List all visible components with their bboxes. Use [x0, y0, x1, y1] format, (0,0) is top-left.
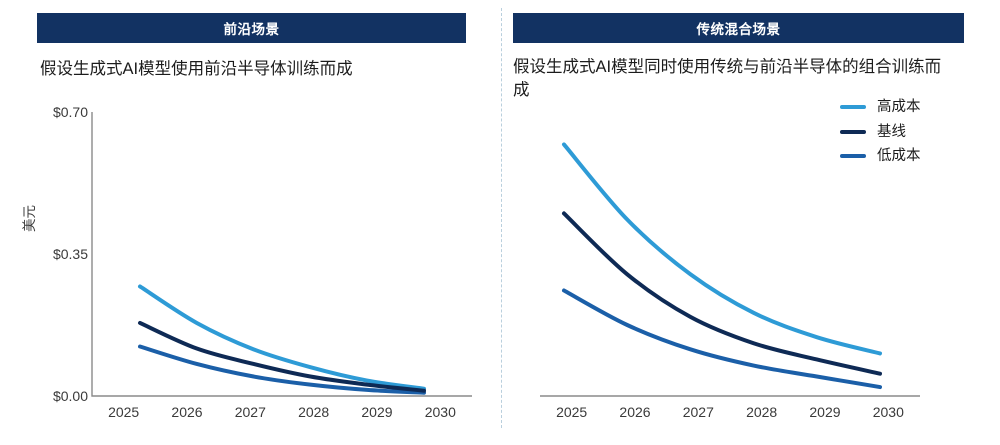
x-tick: 2027	[667, 404, 730, 420]
series-group	[140, 286, 424, 392]
series-line-high-cost	[564, 144, 880, 353]
legend-swatch-icon	[840, 105, 866, 109]
figure-canvas: 前沿场景 假设生成式AI模型使用前沿半导体训练而成 美元 $0.70 $0.35…	[0, 0, 1000, 445]
panel-band-label: 前沿场景	[224, 18, 280, 38]
panel-band-hybrid: 传统混合场景	[513, 13, 964, 43]
x-axis-ticks-frontier: 2025 2026 2027 2028 2029 2030	[92, 404, 472, 426]
line-chart-frontier	[92, 112, 472, 396]
series-line-high-cost	[140, 286, 424, 388]
x-tick: 2029	[793, 404, 856, 420]
y-tick: $0.35	[24, 246, 88, 262]
x-tick: 2030	[409, 404, 472, 420]
panel-frontier: 前沿场景 假设生成式AI模型使用前沿半导体训练而成 美元 $0.70 $0.35…	[0, 0, 502, 445]
series-group	[564, 144, 880, 387]
panel-band-label: 传统混合场景	[697, 18, 781, 38]
x-tick: 2025	[540, 404, 603, 420]
x-tick: 2026	[603, 404, 666, 420]
x-tick: 2029	[345, 404, 408, 420]
x-axis-ticks-hybrid: 2025 2026 2027 2028 2029 2030	[540, 404, 920, 426]
plot-area-hybrid	[540, 112, 920, 396]
y-tick: $0.00	[24, 388, 88, 404]
series-line-low-cost	[564, 291, 880, 388]
plot-area-frontier	[92, 112, 472, 396]
x-tick: 2030	[857, 404, 920, 420]
x-tick: 2025	[92, 404, 155, 420]
y-axis-ticks: $0.70 $0.35 $0.00	[22, 112, 88, 396]
x-tick: 2028	[730, 404, 793, 420]
panel-band-frontier: 前沿场景	[37, 13, 466, 43]
x-tick: 2026	[155, 404, 218, 420]
x-tick: 2028	[282, 404, 345, 420]
chart-title-frontier: 假设生成式AI模型使用前沿半导体训练而成	[40, 58, 480, 81]
y-tick: $0.70	[24, 104, 88, 120]
chart-title-hybrid: 假设生成式AI模型同时使用传统与前沿半导体的组合训练而成	[513, 56, 953, 102]
x-tick: 2027	[219, 404, 282, 420]
axis-lines	[92, 112, 472, 396]
line-chart-hybrid	[540, 112, 920, 396]
